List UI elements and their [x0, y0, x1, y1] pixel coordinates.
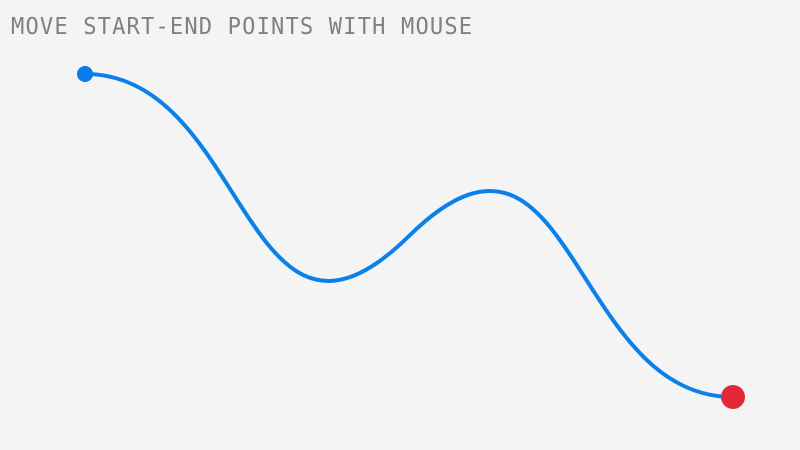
start-point-drag-target[interactable] — [71, 60, 99, 88]
canvas-stage[interactable]: MOVE START-END POINTS WITH MOUSE — [0, 0, 800, 450]
curve-canvas[interactable] — [0, 0, 800, 450]
end-point-drag-target[interactable] — [715, 379, 751, 415]
